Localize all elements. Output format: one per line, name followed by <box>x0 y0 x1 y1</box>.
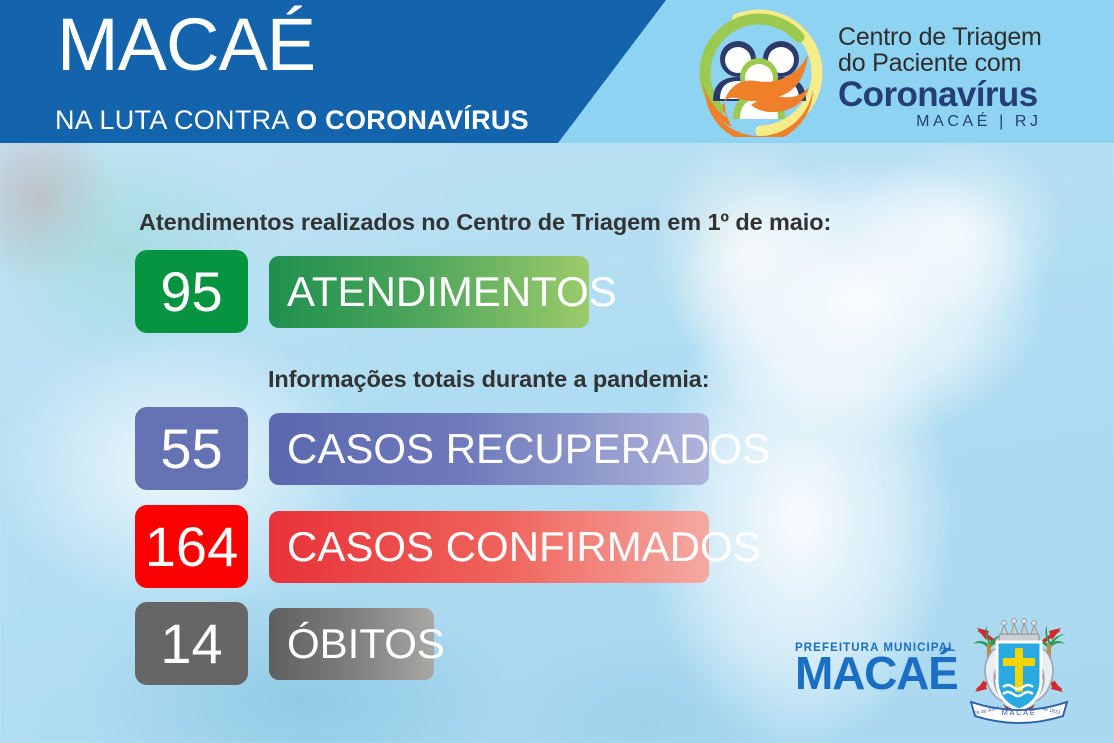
stat-label-casos-confirmados: CASOS CONFIRMADOS <box>269 511 709 583</box>
stat-row-atendimentos: 95 ATENDIMENTOS <box>135 250 589 333</box>
stat-label-atendimentos: ATENDIMENTOS <box>269 256 589 328</box>
stat-row-casos-confirmados: 164 CASOS CONFIRMADOS <box>135 505 709 588</box>
macae-coat-of-arms-icon: MACAÉ 29 de Julho de 1813 <box>963 608 1075 726</box>
stat-label-obitos: ÓBITOS <box>269 608 434 680</box>
covid-bulletin-poster: MACAÉ NA LUTA CONTRA O CORONAVÍRUS <box>0 0 1114 743</box>
stat-number-casos-confirmados: 164 <box>135 505 248 588</box>
coat-scroll-center: MACAÉ <box>1002 708 1037 717</box>
stat-number-casos-recuperados: 55 <box>135 407 248 490</box>
stats-content: Atendimentos realizados no Centro de Tri… <box>0 0 1114 743</box>
prefeitura-logo: PREFEITURA MUNICIPAL MACAÉ <box>795 642 960 694</box>
stat-number-obitos: 14 <box>135 602 248 685</box>
stat-row-casos-recuperados: 55 CASOS RECUPERADOS <box>135 407 709 490</box>
stat-label-casos-recuperados: CASOS RECUPERADOS <box>269 413 709 485</box>
stat-number-atendimentos: 95 <box>135 250 248 333</box>
stat-row-obitos: 14 ÓBITOS <box>135 602 434 685</box>
prefeitura-wordmark: MACAÉ <box>795 652 960 694</box>
heading-pandemic-totals: Informações totais durante a pandemia: <box>268 366 710 393</box>
heading-daily-attendances: Atendimentos realizados no Centro de Tri… <box>139 209 831 236</box>
